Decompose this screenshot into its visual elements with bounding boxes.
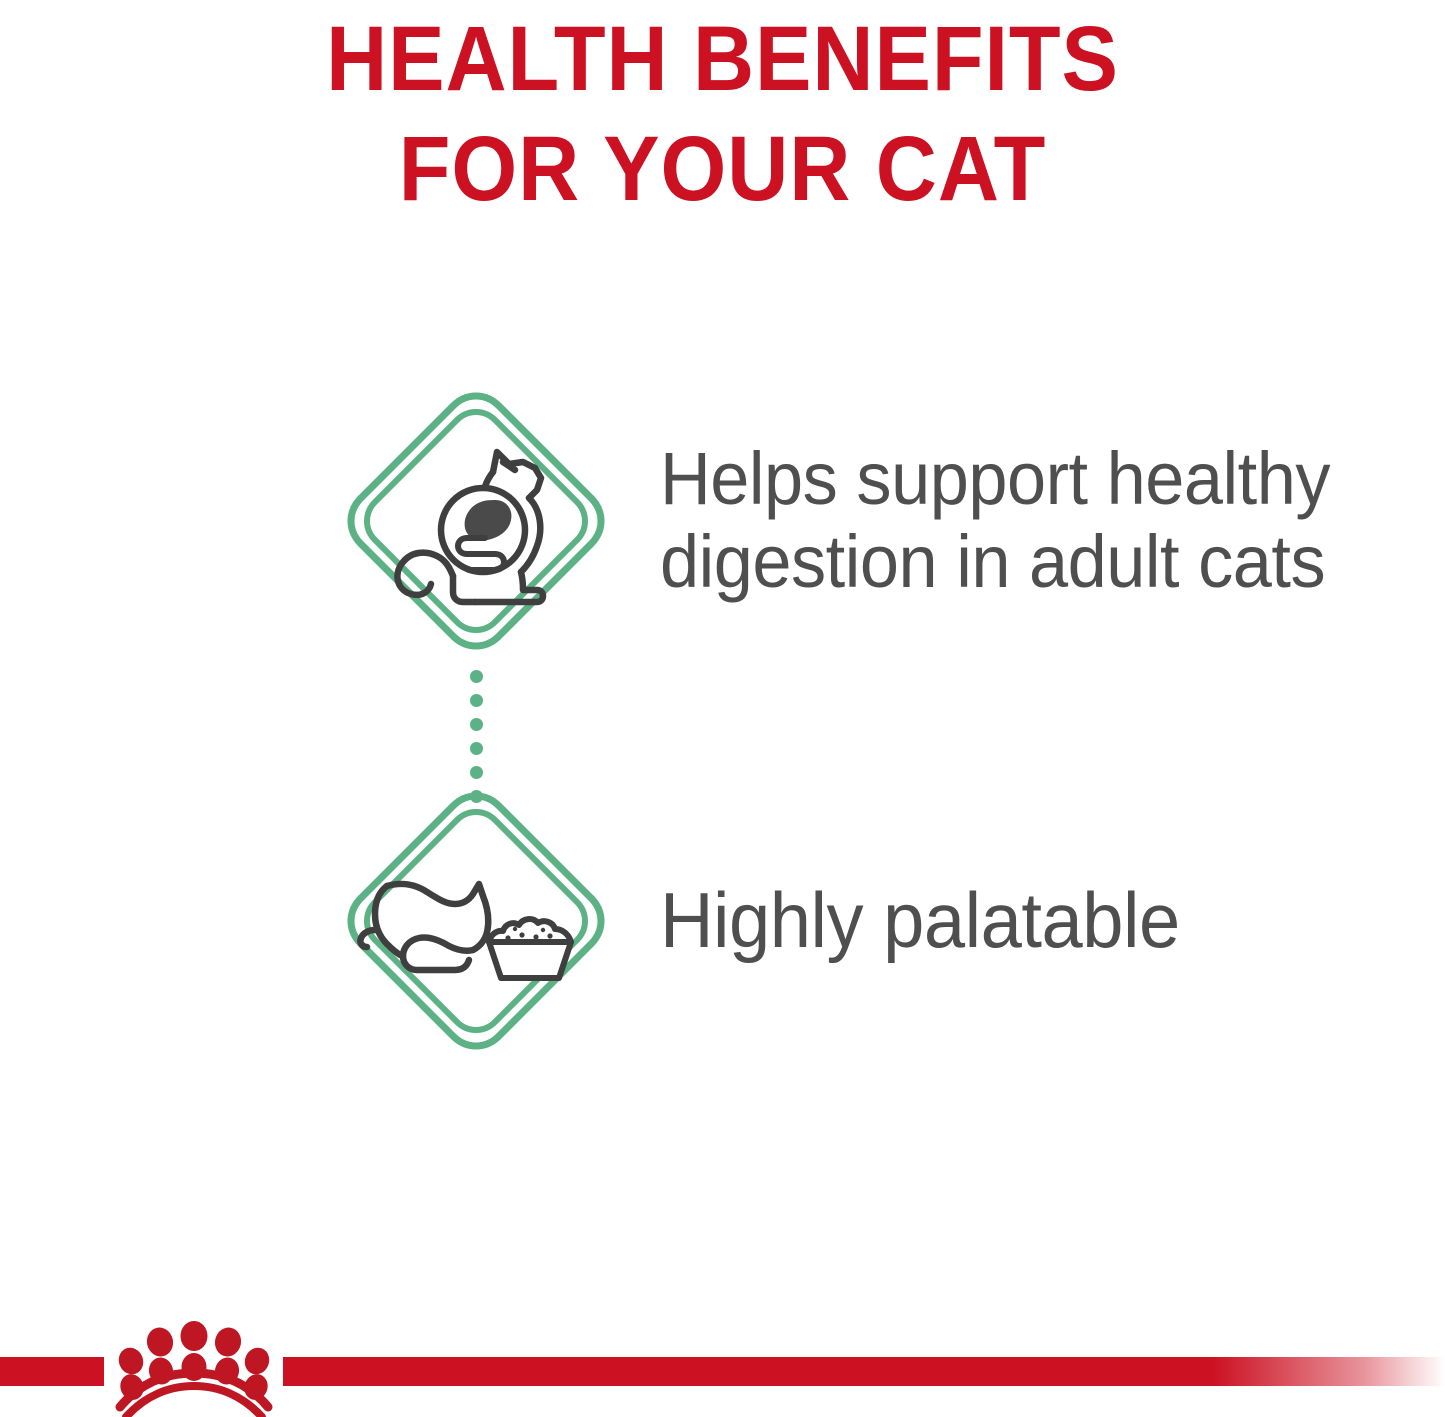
benefit-item-palatability: Highly palatable [0, 780, 1445, 1060]
health-benefits-panel: HEALTH BENEFITS FOR YOUR CAT [0, 0, 1445, 1417]
benefit-label-palatability: Highly palatable [660, 879, 1180, 962]
footer [0, 1299, 1445, 1417]
cat-digestion-icon [345, 390, 607, 652]
cat-eating-bowl-icon [345, 790, 607, 1052]
dotted-connector [466, 670, 486, 770]
connector-dot [470, 766, 483, 779]
benefits-list: Helps support healthy digestion in adult… [0, 380, 1445, 1060]
benefit-icon-slot [0, 380, 660, 660]
connector-dot [470, 790, 483, 803]
connector-dot [470, 718, 483, 731]
royal-canin-crown-logo [104, 1321, 284, 1417]
benefit-icon-slot [0, 780, 660, 1060]
footer-bar-left [0, 1357, 104, 1386]
benefit-label-digestion: Helps support healthy digestion in adult… [660, 437, 1382, 603]
connector-dot [470, 742, 483, 755]
title-line-1: HEALTH BENEFITS [58, 4, 1387, 114]
benefit-item-digestion: Helps support healthy digestion in adult… [0, 380, 1445, 660]
page-title: HEALTH BENEFITS FOR YOUR CAT [0, 0, 1445, 224]
title-line-2: FOR YOUR CAT [58, 114, 1387, 224]
connector-dot [470, 694, 483, 707]
footer-bar-right [283, 1357, 1445, 1386]
connector-dot [470, 670, 483, 683]
